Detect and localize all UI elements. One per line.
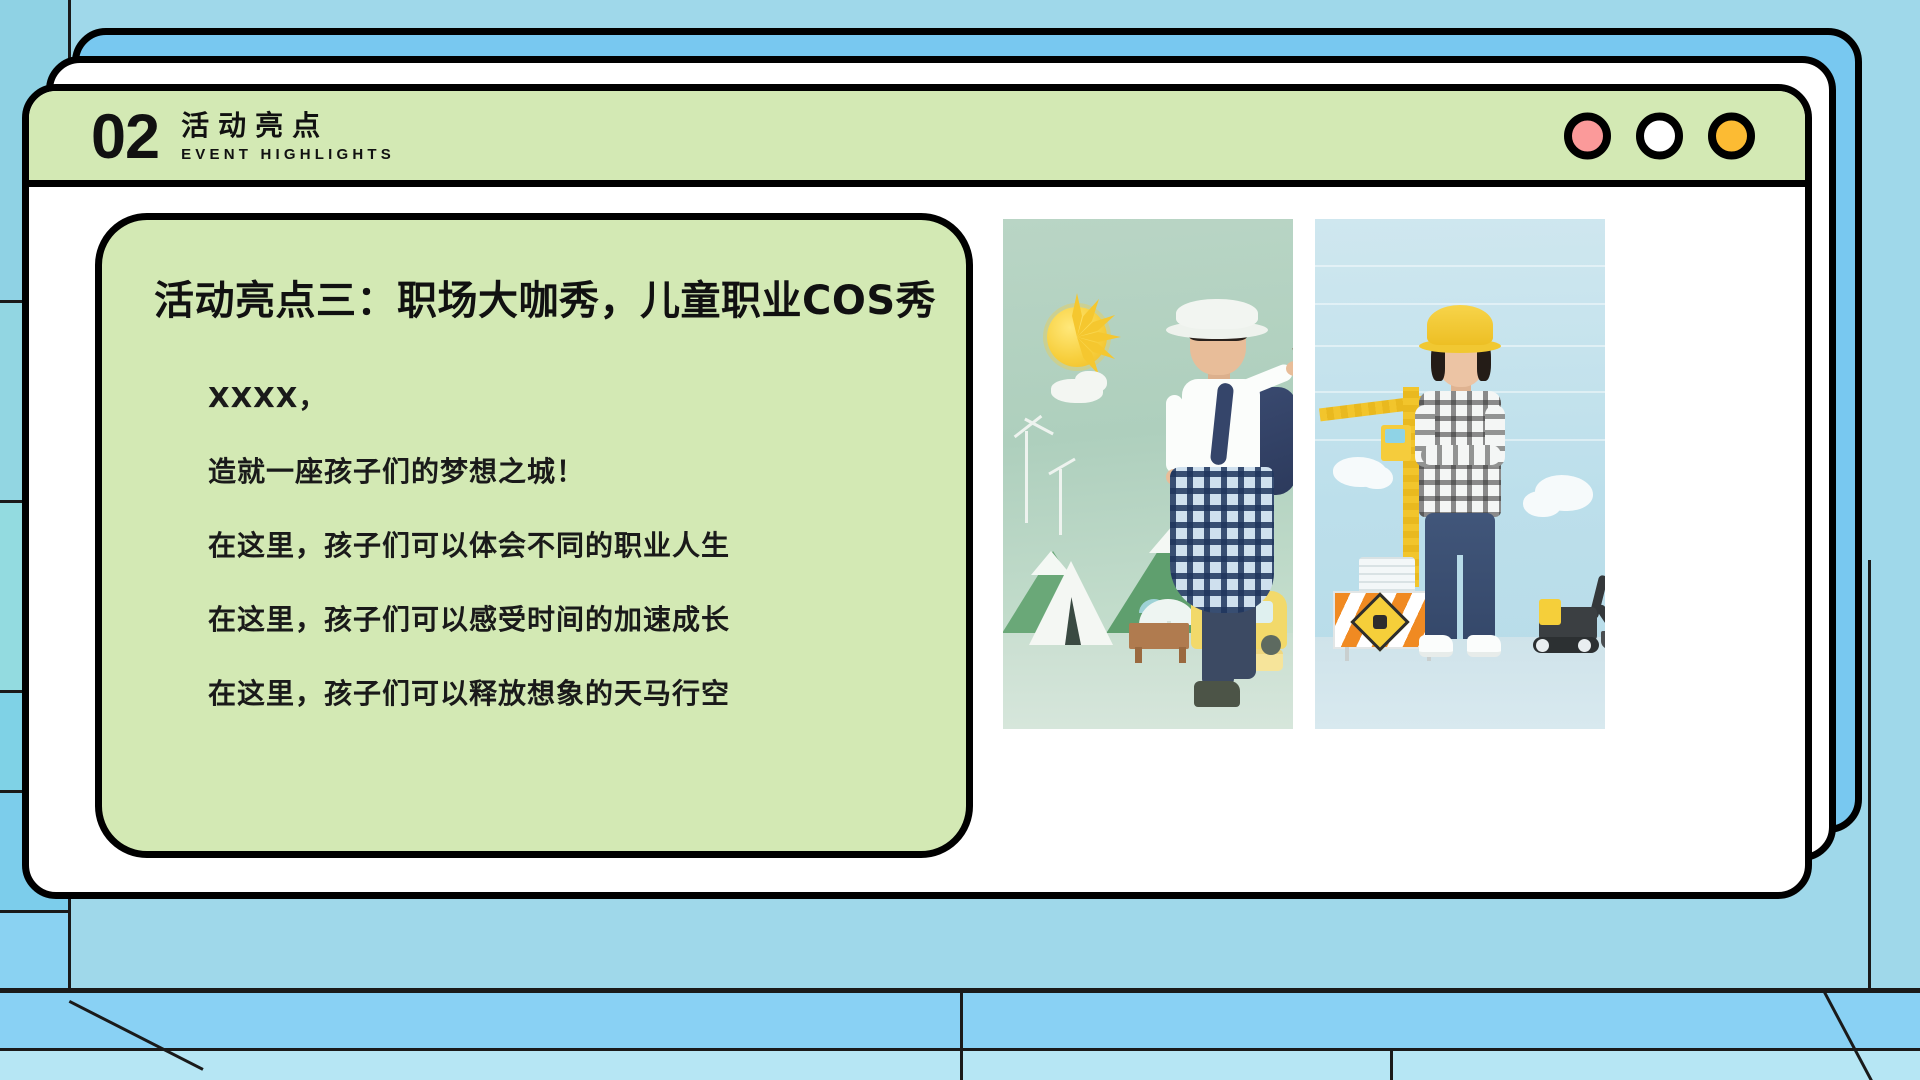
section-number: 02 [91, 109, 159, 167]
backdrop-wave [1315, 265, 1605, 267]
highlight-line: 在这里，孩子们可以体会不同的职业人生 [208, 524, 936, 564]
grid-line [960, 990, 963, 1080]
header-titles: 活动亮点 EVENT HIGHLIGHTS [181, 104, 395, 167]
shoe [1194, 681, 1240, 707]
jeans-leg-gap [1457, 555, 1463, 639]
highlight-line: 在这里，孩子们可以释放想象的天马行空 [208, 672, 936, 712]
excavator-wheel [1578, 639, 1591, 652]
window-header-bar: 02 活动亮点 EVENT HIGHLIGHTS [29, 91, 1805, 187]
cloud-icon [1075, 371, 1107, 393]
child-figure-explorer [1142, 299, 1293, 719]
sneaker [1467, 635, 1501, 657]
window-control-dots[interactable] [1564, 112, 1755, 159]
crossed-arms [1421, 445, 1501, 465]
excavator-bucket [1601, 631, 1605, 649]
highlight-body-lines: XXXX， 造就一座孩子们的梦想之城！ 在这里，孩子们可以体会不同的职业人生 在… [154, 376, 936, 712]
wind-turbine-icon [1059, 469, 1062, 535]
plaid-shirt-tied-at-waist [1170, 467, 1274, 613]
wind-turbine-icon [1025, 431, 1028, 523]
excavator-wheel [1536, 639, 1549, 652]
window-dot-pink[interactable] [1564, 112, 1611, 159]
highlight-content-box: 活动亮点三：职场大咖秀，儿童职业COS秀 XXXX， 造就一座孩子们的梦想之城！… [95, 213, 973, 858]
picnic-table-leg [1135, 647, 1142, 663]
barricade-leg [1345, 647, 1349, 661]
photo-camping-boy [1003, 219, 1293, 729]
section-title-cn: 活动亮点 [181, 104, 395, 144]
left-arm [1166, 395, 1183, 473]
header-title-group: 02 活动亮点 EVENT HIGHLIGHTS [91, 104, 395, 167]
window-dot-orange[interactable] [1708, 112, 1755, 159]
child-figure-builder [1385, 305, 1535, 705]
main-window-card: 02 活动亮点 EVENT HIGHLIGHTS 活动亮点三：职场大咖秀，儿童职… [22, 84, 1812, 899]
highlight-line: XXXX， [208, 376, 936, 416]
highlight-line: 在这里，孩子们可以感受时间的加速成长 [208, 598, 936, 638]
photo-gallery [973, 213, 1765, 858]
highlight-line: 造就一座孩子们的梦想之城！ [208, 450, 936, 490]
wind-turbine-blade [1048, 458, 1075, 476]
bucket-hat [1176, 299, 1258, 329]
excavator-cabin [1539, 599, 1561, 625]
sneaker [1419, 635, 1453, 657]
leaf-branch [1292, 338, 1293, 351]
yellow-hard-hat [1427, 305, 1493, 345]
sun-icon [1047, 307, 1107, 367]
grid-line [1390, 1048, 1393, 1080]
window-body: 活动亮点三：职场大咖秀，儿童职业COS秀 XXXX， 造就一座孩子们的梦想之城！… [29, 187, 1805, 892]
highlight-title: 活动亮点三：职场大咖秀，儿童职业COS秀 [154, 268, 936, 326]
window-dot-white[interactable] [1636, 112, 1683, 159]
section-title-en: EVENT HIGHLIGHTS [181, 146, 395, 163]
grid-line [1868, 560, 1871, 990]
grid-line [0, 910, 70, 913]
photo-construction-kid [1315, 219, 1605, 729]
